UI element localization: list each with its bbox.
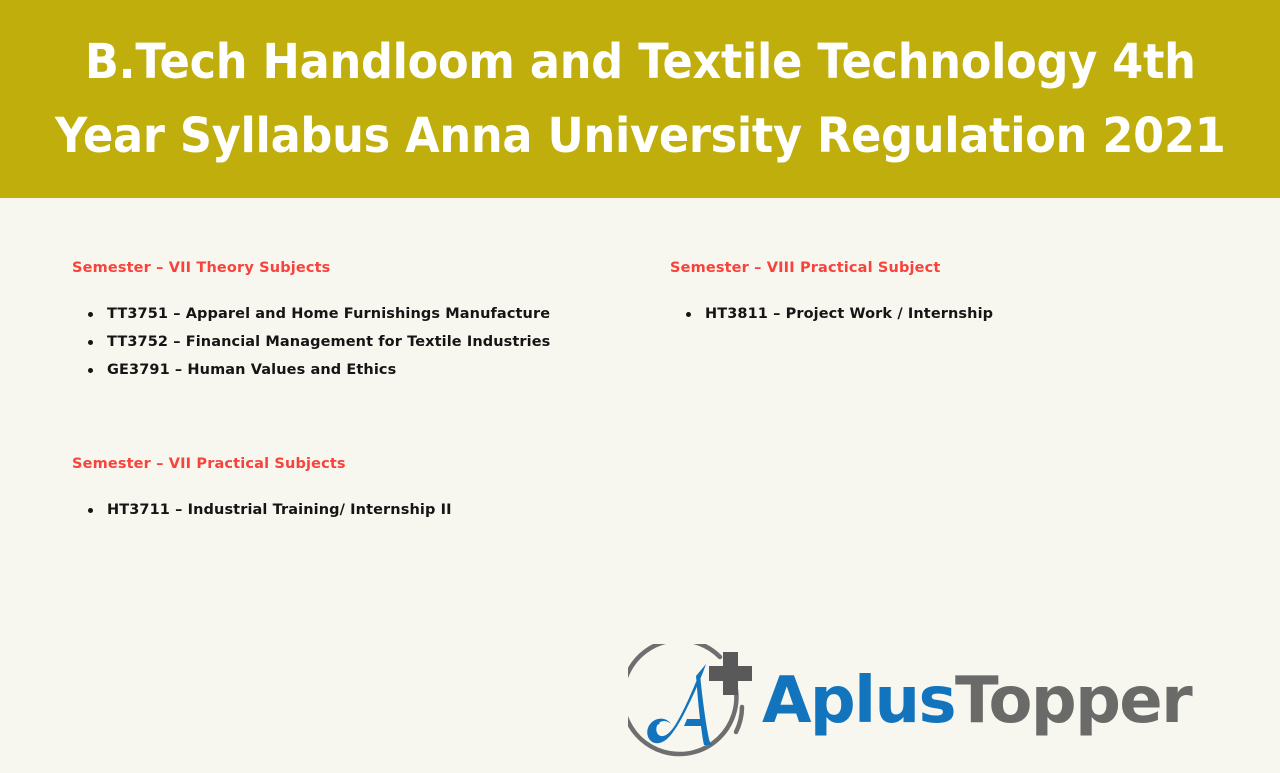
brand-wordmark: AplusTopper: [762, 662, 1191, 740]
page-title-line-2: Year Syllabus Anna University Regulation…: [55, 99, 1225, 173]
content-area: Semester – VII Theory Subjects TT3751 – …: [0, 198, 1280, 720]
list-item: GE3791 – Human Values and Ethics: [72, 356, 612, 384]
brand-wordmark-aplus: Aplus: [762, 664, 955, 738]
subject-list-semester-vii-practical: HT3711 – Industrial Training/ Internship…: [72, 496, 612, 524]
list-item: HT3811 – Project Work / Internship: [670, 300, 1190, 328]
list-item: TT3752 – Financial Management for Textil…: [72, 328, 612, 356]
section-heading-semester-vii-practical: Semester – VII Practical Subjects: [72, 456, 346, 472]
section-heading-semester-viii-practical: Semester – VIII Practical Subject: [670, 260, 940, 276]
brand-wordmark-topper: Topper: [955, 664, 1191, 738]
list-item: HT3711 – Industrial Training/ Internship…: [72, 496, 612, 524]
page-title-line-1: B.Tech Handloom and Textile Technology 4…: [55, 25, 1225, 99]
subject-list-semester-viii-practical: HT3811 – Project Work / Internship: [670, 300, 1190, 328]
page-title: B.Tech Handloom and Textile Technology 4…: [55, 25, 1225, 173]
section-heading-semester-vii-theory: Semester – VII Theory Subjects: [72, 260, 330, 276]
list-item: TT3751 – Apparel and Home Furnishings Ma…: [72, 300, 612, 328]
brand-logo: AplusTopper: [628, 644, 1148, 768]
subject-list-semester-vii-theory: TT3751 – Apparel and Home Furnishings Ma…: [72, 300, 612, 384]
header-banner: B.Tech Handloom and Textile Technology 4…: [0, 0, 1280, 198]
aplustopper-a-plus-circle-icon: [628, 644, 754, 768]
